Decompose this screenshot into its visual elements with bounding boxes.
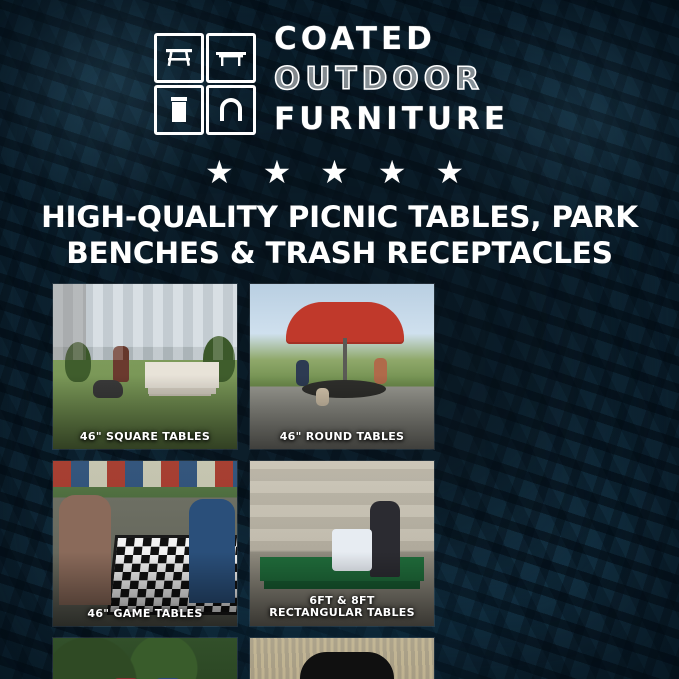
arch-glyph bbox=[216, 97, 246, 123]
tile-square-tables[interactable]: 46" SQUARE TABLES bbox=[52, 283, 238, 450]
product-category-grid: 46" SQUARE TABLES 46" ROUND TABLES bbox=[52, 283, 627, 679]
page-title: HIGH-QUALITY PICNIC TABLES, PARK BENCHES… bbox=[0, 200, 679, 272]
tile-round-tables[interactable]: 46" ROUND TABLES bbox=[249, 283, 435, 450]
tile-caption: 6FT & 8FT RECTANGULAR TABLES bbox=[250, 591, 434, 625]
photo-shade bbox=[53, 461, 237, 626]
photo-shade bbox=[53, 284, 237, 449]
picnic-table-icon bbox=[154, 33, 204, 83]
tile-caption-line-2: RECTANGULAR TABLES bbox=[252, 607, 432, 620]
tile-benches[interactable]: 6FT & 8FT BENCHES bbox=[52, 637, 238, 679]
logo-line-3: FURNITURE bbox=[274, 104, 509, 135]
tile-caption: 46" GAME TABLES bbox=[53, 604, 237, 626]
brand-logo: COATED OUTDOOR FURNITURE bbox=[150, 24, 550, 144]
tile-rectangular-tables[interactable]: 6FT & 8FT RECTANGULAR TABLES bbox=[249, 460, 435, 627]
bench-glyph bbox=[215, 47, 247, 69]
trash-glyph bbox=[167, 95, 191, 125]
tile-trash-receptacles[interactable]: DOME & FLAT LID TRASH RECEPTACLES bbox=[249, 637, 435, 679]
headline-line-2: BENCHES & TRASH RECEPTACLES bbox=[0, 236, 679, 272]
star-rating: ★ ★ ★ ★ ★ bbox=[0, 156, 679, 188]
picnic-table-glyph bbox=[164, 46, 194, 70]
photo-shade bbox=[250, 284, 434, 449]
tile-caption: 46" SQUARE TABLES bbox=[53, 427, 237, 449]
logo-line-2: OUTDOOR bbox=[274, 64, 509, 95]
logo-line-1: COATED bbox=[274, 24, 509, 55]
tile-caption: 46" ROUND TABLES bbox=[250, 427, 434, 449]
tile-game-tables[interactable]: 46" GAME TABLES bbox=[52, 460, 238, 627]
logo-mark bbox=[150, 29, 260, 139]
product-banner: COATED OUTDOOR FURNITURE ★ ★ ★ ★ ★ HIGH-… bbox=[0, 0, 679, 679]
logo-wordmark: COATED OUTDOOR FURNITURE bbox=[274, 24, 509, 144]
bench-icon bbox=[206, 33, 256, 83]
photo-shade bbox=[250, 638, 434, 679]
photo-shade bbox=[53, 638, 237, 679]
headline-line-1: HIGH-QUALITY PICNIC TABLES, PARK bbox=[0, 200, 679, 236]
arch-bench-icon bbox=[206, 85, 256, 135]
trash-receptacle-icon bbox=[154, 85, 204, 135]
